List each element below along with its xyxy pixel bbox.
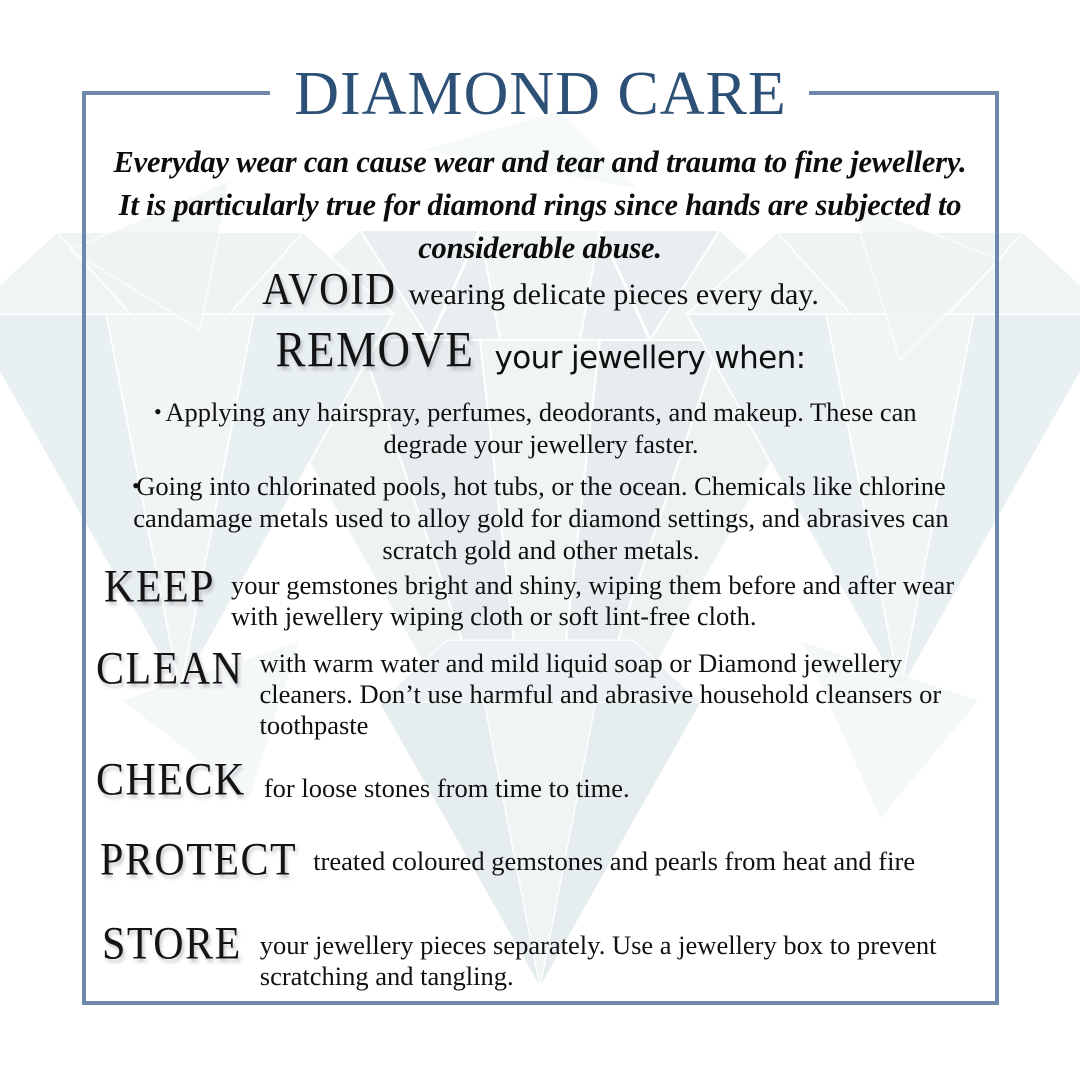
tip-body-protect: treated coloured gemstones and pearls fr… [297, 839, 915, 877]
list-item: • Applying any hairspray, perfumes, deod… [120, 396, 962, 460]
tip-check: CHECK for loose stones from time to time… [96, 759, 986, 807]
bullet-dot-icon: • [154, 396, 162, 428]
tip-keep: KEEP your gemstones bright and shiny, wi… [104, 565, 984, 632]
remove-body: your jewellery when: [474, 340, 805, 376]
tip-keyword-protect: PROTECT [100, 833, 297, 887]
list-item: • Going into chlorinated pools, hot tubs… [120, 470, 962, 566]
remove-bullet-list: • Applying any hairspray, perfumes, deod… [120, 396, 962, 576]
tip-body-check: for loose stones from time to time. [246, 759, 630, 804]
remove-row: REMOVEyour jewellery when: [82, 327, 999, 379]
tip-keyword-clean: CLEAN [96, 639, 244, 696]
list-item-text: Applying any hairspray, perfumes, deodor… [165, 397, 916, 459]
tip-store: STORE your jewellery pieces separately. … [102, 923, 992, 992]
tip-clean: CLEAN with warm water and mild liquid so… [96, 645, 986, 741]
list-item-text: Going into chlorinated pools, hot tubs, … [133, 471, 948, 565]
intro-paragraph: Everyday wear can cause wear and tear an… [100, 141, 980, 270]
content-area: DIAMOND CARE Everyday wear can cause wea… [82, 91, 999, 1005]
tip-keyword-check: CHECK [96, 753, 246, 807]
avoid-row: AVOIDwearing delicate pieces every day. [82, 267, 999, 315]
tip-body-keep: your gemstones bright and shiny, wiping … [215, 565, 984, 632]
bullet-dot-icon: • [132, 470, 140, 502]
avoid-body: wearing delicate pieces every day. [396, 278, 818, 311]
tip-body-store: your jewellery pieces separately. Use a … [242, 923, 992, 992]
tip-keyword-keep: KEEP [104, 559, 215, 614]
tip-keyword-store: STORE [102, 917, 242, 971]
tip-protect: PROTECT treated coloured gemstones and p… [100, 839, 990, 887]
remove-keyword: REMOVE [275, 321, 474, 379]
avoid-keyword: AVOID [262, 261, 396, 315]
diamond-care-infographic: DIAMOND CARE Everyday wear can cause wea… [0, 0, 1080, 1080]
tip-body-clean: with warm water and mild liquid soap or … [244, 645, 987, 741]
page-title: DIAMOND CARE [82, 59, 999, 129]
